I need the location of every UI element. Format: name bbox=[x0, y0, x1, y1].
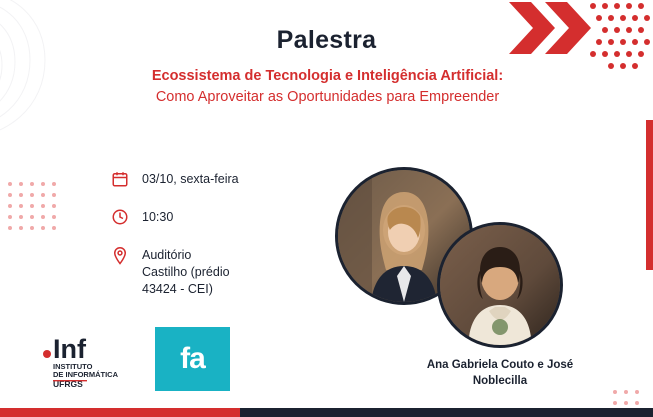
detail-location-text: Auditório Castilho (prédio 43424 - CEI) bbox=[142, 246, 230, 298]
speaker-names: Ana Gabriela Couto e José Noblecilla bbox=[400, 358, 600, 389]
dot-grid-left bbox=[8, 182, 56, 230]
detail-date-text: 03/10, sexta-feira bbox=[142, 170, 239, 188]
logo-fa-text: fa bbox=[180, 342, 205, 376]
page-subtitle: Ecossistema de Tecnologia e Inteligência… bbox=[150, 66, 505, 108]
svg-text:DE INFORMÁTICA: DE INFORMÁTICA bbox=[53, 370, 119, 379]
speaker-photo-2-image bbox=[440, 225, 560, 345]
side-bar-red bbox=[646, 120, 653, 270]
speaker-photo-2 bbox=[437, 222, 563, 348]
dot-grid-bottom-right bbox=[613, 390, 639, 405]
detail-date: 03/10, sexta-feira bbox=[110, 170, 340, 192]
footer-bar-red bbox=[0, 408, 240, 417]
poster-canvas: Palestra Ecossistema de Tecnologia e Int… bbox=[0, 0, 653, 417]
event-details: 03/10, sexta-feira 10:30 Auditório Casti… bbox=[110, 170, 340, 314]
logo-fa: fa bbox=[155, 327, 230, 391]
clock-icon bbox=[110, 208, 130, 230]
calendar-icon bbox=[110, 170, 130, 192]
logo-inf-graphic: Inf INSTITUTO DE INFORMÁTICA UFRGS bbox=[42, 330, 147, 388]
detail-location: Auditório Castilho (prédio 43424 - CEI) bbox=[110, 246, 340, 298]
svg-text:Inf: Inf bbox=[53, 334, 87, 364]
page-subtitle-bold: Ecossistema de Tecnologia e Inteligência… bbox=[152, 68, 503, 84]
detail-time: 10:30 bbox=[110, 208, 340, 230]
location-pin-icon bbox=[110, 246, 130, 268]
footer-bar-dark bbox=[240, 408, 653, 417]
logo-inf: Inf INSTITUTO DE INFORMÁTICA UFRGS bbox=[42, 330, 147, 388]
detail-time-text: 10:30 bbox=[142, 208, 173, 226]
page-title: Palestra bbox=[0, 26, 653, 55]
page-subtitle-rest: Como Aproveitar as Oportunidades para Em… bbox=[156, 89, 499, 105]
